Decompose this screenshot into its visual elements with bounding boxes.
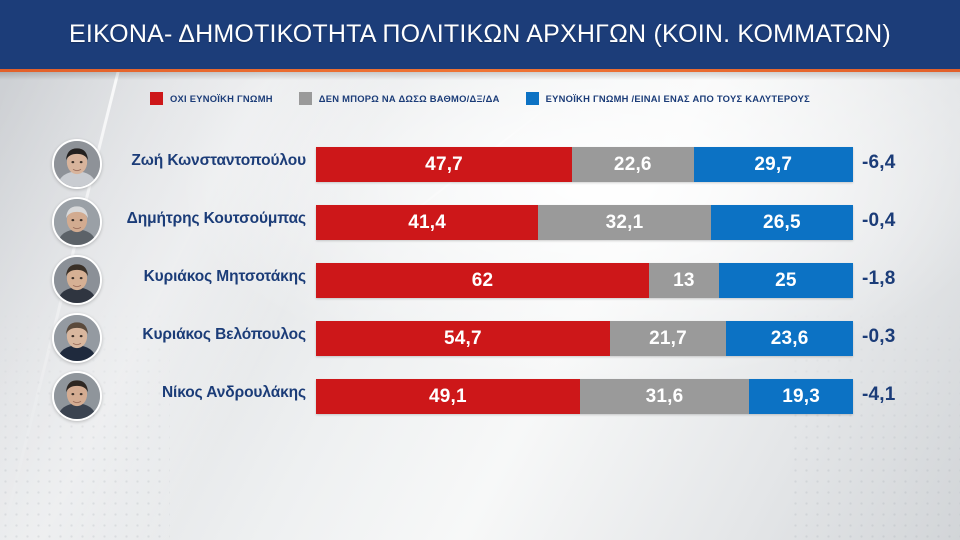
bar-segment-value: 26,5 [763,212,801,234]
chart-row: Νίκος Ανδρουλάκης49,131,619,3-4,1 [0,368,960,426]
legend-item: ΔΕΝ ΜΠΟΡΩ ΝΑ ΔΩΣΩ ΒΑΘΜΟ/ΔΞ/ΔΑ [299,92,500,105]
bar-segment-value: 32,1 [606,212,644,234]
bar-segment-favourable: 25 [719,263,853,298]
bar-segment-value: 29,7 [754,154,792,176]
change-value: -4,1 [862,384,942,406]
chart-row: Ζωή Κωνσταντοπούλου47,722,629,7-6,4 [0,136,960,194]
person-name: Νίκος Ανδρουλάκης [0,384,306,402]
bar-segment-unfavourable: 49,1 [316,379,580,414]
legend: ΟΧΙ ΕΥΝΟΪΚΗ ΓΝΩΜΗΔΕΝ ΜΠΟΡΩ ΝΑ ΔΩΣΩ ΒΑΘΜΟ… [0,92,960,105]
bar-segment-unfavourable: 54,7 [316,321,610,356]
stacked-bar: 54,721,723,6 [316,321,853,356]
legend-item-label: ΕΥΝΟΪΚΗ ΓΝΩΜΗ /ΕΙΝΑΙ ΕΝΑΣ ΑΠΟ ΤΟΥΣ ΚΑΛΥΤ… [546,93,810,104]
change-value: -0,4 [862,210,942,232]
change-value: -0,3 [862,326,942,348]
legend-item-label: ΟΧΙ ΕΥΝΟΪΚΗ ΓΝΩΜΗ [170,93,273,104]
bar-segment-value: 23,6 [771,328,809,350]
bar-segment-no-opinion: 32,1 [538,205,710,240]
legend-item: ΕΥΝΟΪΚΗ ΓΝΩΜΗ /ΕΙΝΑΙ ΕΝΑΣ ΑΠΟ ΤΟΥΣ ΚΑΛΥΤ… [526,92,810,105]
person-name: Δημήτρης Κουτσούμπας [0,210,306,228]
bar-segment-value: 54,7 [444,328,482,350]
chart-row: Δημήτρης Κουτσούμπας41,432,126,5-0,4 [0,194,960,252]
person-name: Κυριάκος Μητσοτάκης [0,268,306,286]
stacked-bar: 41,432,126,5 [316,205,853,240]
stacked-bar: 621325 [316,263,853,298]
bar-segment-no-opinion: 21,7 [610,321,727,356]
chart-row: Κυριάκος Μητσοτάκης621325-1,8 [0,252,960,310]
bar-segment-value: 21,7 [649,328,687,350]
bar-segment-favourable: 26,5 [711,205,853,240]
legend-swatch-icon [526,92,539,105]
bar-segment-value: 25 [775,270,797,292]
header-drop-shadow [0,72,960,80]
bar-segment-no-opinion: 13 [649,263,719,298]
bar-segment-favourable: 19,3 [749,379,853,414]
stacked-bar: 49,131,619,3 [316,379,853,414]
bar-segment-value: 49,1 [429,386,467,408]
legend-item: ΟΧΙ ΕΥΝΟΪΚΗ ΓΝΩΜΗ [150,92,273,105]
bar-segment-unfavourable: 47,7 [316,147,572,182]
page-title: ΕΙΚΟΝΑ- ΔΗΜΟΤΙΚΟΤΗΤΑ ΠΟΛΙΤΙΚΩΝ ΑΡΧΗΓΩΝ (… [69,20,891,49]
bar-segment-unfavourable: 41,4 [316,205,538,240]
legend-swatch-icon [299,92,312,105]
bar-segment-value: 62 [472,270,494,292]
legend-item-label: ΔΕΝ ΜΠΟΡΩ ΝΑ ΔΩΣΩ ΒΑΘΜΟ/ΔΞ/ΔΑ [319,93,500,104]
broadcast-poll-graphic: ΕΙΚΟΝΑ- ΔΗΜΟΤΙΚΟΤΗΤΑ ΠΟΛΙΤΙΚΩΝ ΑΡΧΗΓΩΝ (… [0,0,960,540]
stacked-bar: 47,722,629,7 [316,147,853,182]
legend-swatch-icon [150,92,163,105]
bar-chart-rows: Ζωή Κωνσταντοπούλου47,722,629,7-6,4Δημήτ… [0,136,960,426]
person-name: Ζωή Κωνσταντοπούλου [0,152,306,170]
bar-segment-no-opinion: 22,6 [572,147,693,182]
chart-row: Κυριάκος Βελόπουλος54,721,723,6-0,3 [0,310,960,368]
bar-segment-value: 31,6 [646,386,684,408]
change-value: -1,8 [862,268,942,290]
bar-segment-favourable: 29,7 [694,147,853,182]
header-band: ΕΙΚΟΝΑ- ΔΗΜΟΤΙΚΟΤΗΤΑ ΠΟΛΙΤΙΚΩΝ ΑΡΧΗΓΩΝ (… [0,0,960,69]
person-name: Κυριάκος Βελόπουλος [0,326,306,344]
bar-segment-favourable: 23,6 [726,321,853,356]
bar-segment-unfavourable: 62 [316,263,649,298]
bar-segment-value: 13 [673,270,695,292]
change-value: -6,4 [862,152,942,174]
bar-segment-no-opinion: 31,6 [580,379,750,414]
bar-segment-value: 41,4 [408,212,446,234]
bar-segment-value: 47,7 [425,154,463,176]
bar-segment-value: 22,6 [614,154,652,176]
bar-segment-value: 19,3 [782,386,820,408]
